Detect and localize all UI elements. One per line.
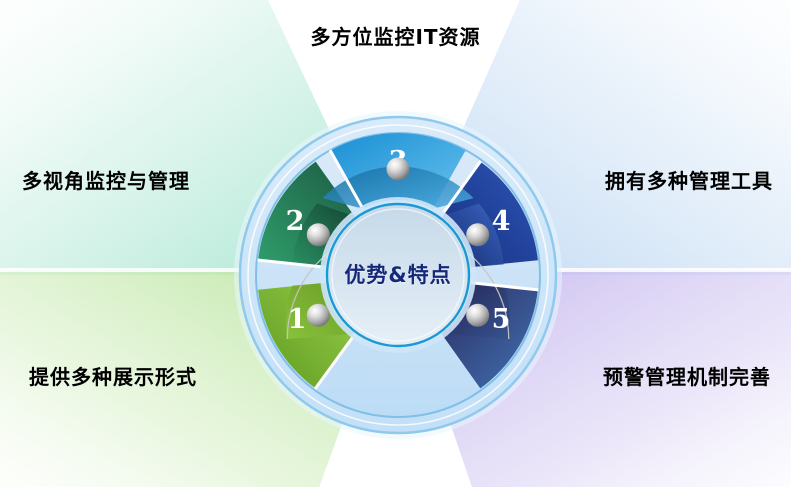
label-right-top: 拥有多种管理工具 [605,171,773,191]
center-circle[interactable] [327,204,469,346]
label-left-bottom: 提供多种展示形式 [29,367,197,387]
segment-2-marker-sphere[interactable] [307,223,330,246]
segment-4-marker-sphere[interactable] [466,223,489,246]
label-right-bottom: 预警管理机制完善 [603,367,771,387]
segment-3-marker-sphere[interactable] [387,158,410,181]
segment-4-number: 4 [492,206,511,237]
segment-5-marker-sphere[interactable] [466,304,489,327]
radial-wheel: 1 2 3 4 5 优势&特点 [233,110,563,440]
segment-1-number: 1 [288,304,307,335]
segment-5-number: 5 [492,304,511,335]
infographic-canvas: 1 2 3 4 5 优势&特点 多方位监控IT资源 多视角监控与管理 提供多种展… [0,0,791,487]
label-left-top: 多视角监控与管理 [22,171,190,191]
label-top: 多方位监控IT资源 [0,27,791,47]
segment-1-marker-sphere[interactable] [307,304,330,327]
segment-2-number: 2 [286,206,305,237]
